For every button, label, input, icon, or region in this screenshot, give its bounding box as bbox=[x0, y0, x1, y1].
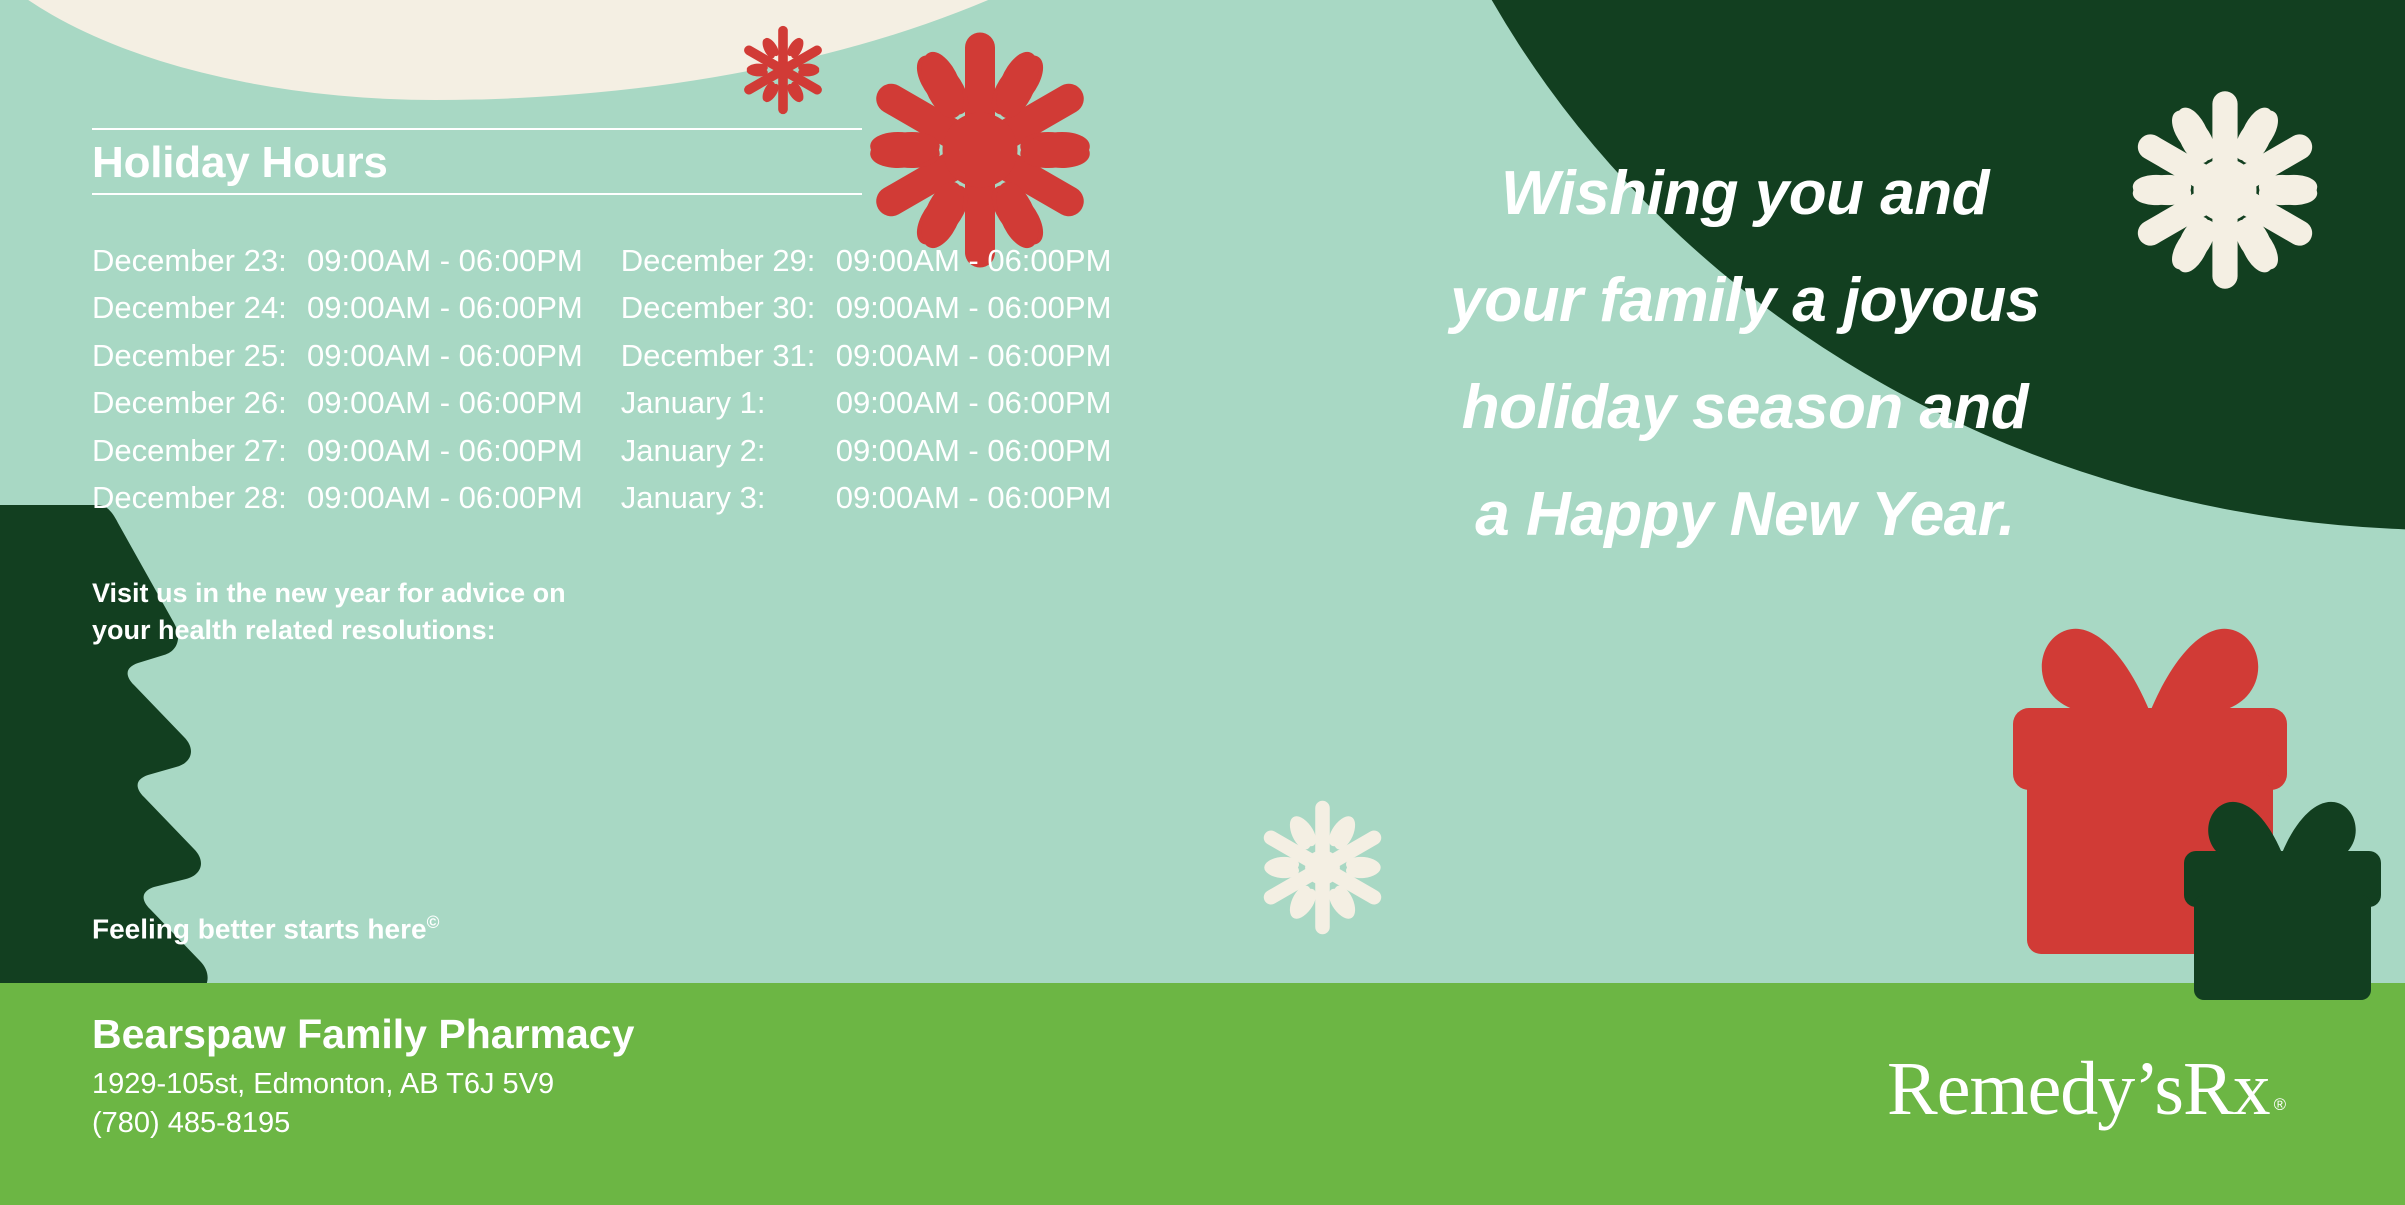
hours-date: January 3: bbox=[621, 474, 836, 522]
brand-tagline: Feeling better starts here© bbox=[92, 912, 439, 945]
hours-date: December 31: bbox=[621, 332, 836, 380]
hours-date: December 28: bbox=[92, 474, 307, 522]
table-row: December 24: 09:00AM - 06:00PM bbox=[92, 284, 583, 332]
snowflake-icon-cream-center bbox=[1250, 795, 1395, 940]
visit-note-line-1: Visit us in the new year for advice on bbox=[92, 575, 732, 612]
cream-swoosh-shape bbox=[0, 0, 1260, 100]
dark-green-left-block bbox=[0, 735, 82, 985]
holiday-hours-heading-rule: Holiday Hours bbox=[92, 128, 862, 195]
hours-date: December 25: bbox=[92, 332, 307, 380]
pharmacy-name: Bearspaw Family Pharmacy bbox=[92, 1010, 634, 1059]
holiday-hours-column-left: December 23: 09:00AM - 06:00PM December … bbox=[92, 237, 583, 522]
hours-date: January 2: bbox=[621, 427, 836, 475]
visit-note: Visit us in the new year for advice on y… bbox=[92, 575, 732, 649]
hours-date: December 24: bbox=[92, 284, 307, 332]
snowflake-icon-small-red bbox=[735, 22, 831, 118]
pharmacy-contact-info: Bearspaw Family Pharmacy 1929-105st, Edm… bbox=[92, 1010, 634, 1143]
copyright-mark: © bbox=[427, 912, 440, 932]
hours-date: December 30: bbox=[621, 284, 836, 332]
hours-date: December 26: bbox=[92, 379, 307, 427]
greeting-line-4: a Happy New Year. bbox=[1330, 461, 2160, 568]
cream-swoosh-shape-secondary bbox=[0, 0, 900, 80]
table-row: December 23: 09:00AM - 06:00PM bbox=[92, 237, 583, 285]
table-row: December 28: 09:00AM - 06:00PM bbox=[92, 474, 583, 522]
hours-time: 09:00AM - 06:00PM bbox=[307, 332, 583, 380]
hours-date: December 29: bbox=[621, 237, 836, 285]
hours-time: 09:00AM - 06:00PM bbox=[836, 284, 1112, 332]
hours-date: December 27: bbox=[92, 427, 307, 475]
remedysrx-wordmark: Remedy’sRx bbox=[1887, 1047, 2270, 1131]
hours-time: 09:00AM - 06:00PM bbox=[836, 379, 1112, 427]
holiday-hours-section: Holiday Hours December 23: 09:00AM - 06:… bbox=[92, 128, 1132, 522]
brand-tagline-text: Feeling better starts here bbox=[92, 913, 427, 944]
table-row: December 30: 09:00AM - 06:00PM bbox=[621, 284, 1112, 332]
greeting-line-3: holiday season and bbox=[1330, 354, 2160, 461]
hours-date: January 1: bbox=[621, 379, 836, 427]
table-row: January 3: 09:00AM - 06:00PM bbox=[621, 474, 1112, 522]
hours-time: 09:00AM - 06:00PM bbox=[307, 379, 583, 427]
hours-time: 09:00AM - 06:00PM bbox=[836, 237, 1112, 285]
table-row: December 31: 09:00AM - 06:00PM bbox=[621, 332, 1112, 380]
table-row: December 25: 09:00AM - 06:00PM bbox=[92, 332, 583, 380]
pharmacy-phone: (780) 485-8195 bbox=[92, 1104, 634, 1143]
table-row: January 2: 09:00AM - 06:00PM bbox=[621, 427, 1112, 475]
remedysrx-logo: Remedy’sRx® bbox=[1887, 1051, 2285, 1127]
hours-time: 09:00AM - 06:00PM bbox=[307, 237, 583, 285]
holiday-hours-heading: Holiday Hours bbox=[92, 138, 862, 189]
hours-time: 09:00AM - 06:00PM bbox=[307, 474, 583, 522]
table-row: December 27: 09:00AM - 06:00PM bbox=[92, 427, 583, 475]
holiday-card: Holiday Hours December 23: 09:00AM - 06:… bbox=[0, 0, 2405, 1205]
pharmacy-address: 1929-105st, Edmonton, AB T6J 5V9 bbox=[92, 1065, 634, 1104]
table-row: December 26: 09:00AM - 06:00PM bbox=[92, 379, 583, 427]
holiday-hours-table: December 23: 09:00AM - 06:00PM December … bbox=[92, 237, 1132, 522]
visit-note-line-2: your health related resolutions: bbox=[92, 612, 732, 649]
holiday-hours-column-right: December 29: 09:00AM - 06:00PM December … bbox=[621, 237, 1112, 522]
table-row: January 1: 09:00AM - 06:00PM bbox=[621, 379, 1112, 427]
hours-time: 09:00AM - 06:00PM bbox=[836, 332, 1112, 380]
hours-time: 09:00AM - 06:00PM bbox=[836, 474, 1112, 522]
greeting-line-1: Wishing you and bbox=[1330, 140, 2160, 247]
hours-time: 09:00AM - 06:00PM bbox=[307, 284, 583, 332]
hours-date: December 23: bbox=[92, 237, 307, 285]
registered-mark: ® bbox=[2274, 1095, 2285, 1114]
greeting-message: Wishing you and your family a joyous hol… bbox=[1330, 140, 2160, 568]
gift-icon-red bbox=[2005, 612, 2295, 957]
hours-time: 09:00AM - 06:00PM bbox=[307, 427, 583, 475]
gift-icon-green bbox=[2180, 795, 2385, 1000]
greeting-line-2: your family a joyous bbox=[1330, 247, 2160, 354]
table-row: December 29: 09:00AM - 06:00PM bbox=[621, 237, 1112, 285]
hours-time: 09:00AM - 06:00PM bbox=[836, 427, 1112, 475]
